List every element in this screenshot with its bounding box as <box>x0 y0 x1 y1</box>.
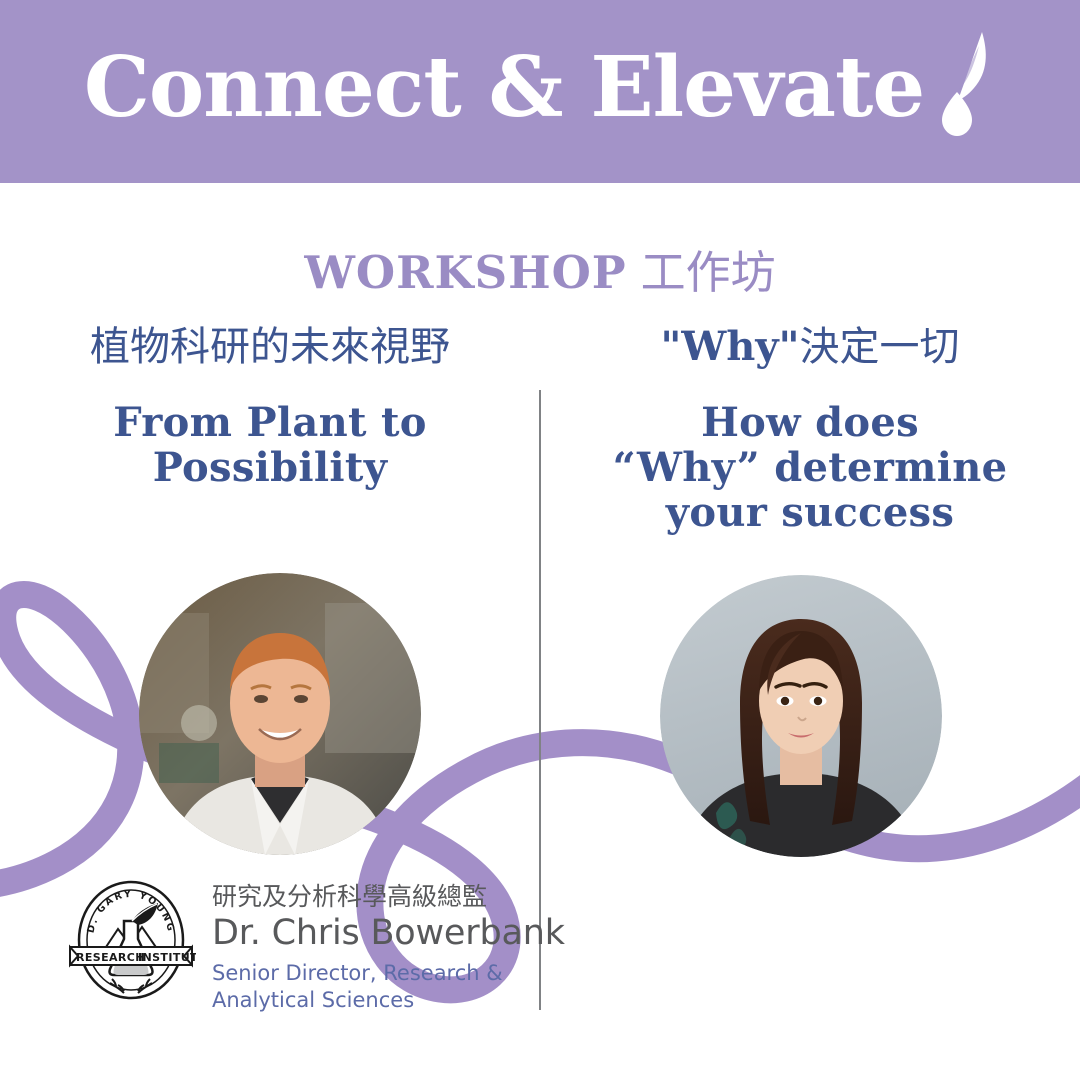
page-title: Connect & Elevate <box>84 46 924 129</box>
session-column-right: "Why"決定一切 How does “Why” determine your … <box>540 183 1080 1080</box>
speaker-role-zh-left: 研究及分析科學高級總監 <box>212 881 565 912</box>
sessions-row: 植物科研的未來視野 From Plant to Possibility <box>0 183 1080 1080</box>
session-title-zh-left: 植物科研的未來視野 <box>0 323 540 371</box>
session-title-zh-right-suffix: 決定一切 <box>799 324 959 370</box>
session-title-en-left: From Plant to Possibility <box>0 401 540 491</box>
session-title-en-right-line3: your success <box>566 491 1054 536</box>
session-title-en-right-line2: “Why” determine <box>566 446 1054 491</box>
svg-text:INSTITUTE: INSTITUTE <box>138 951 196 964</box>
session-title-en-right: How does “Why” determine your success <box>540 401 1080 535</box>
speaker-portrait-vivian-wan <box>660 575 942 857</box>
young-living-leaf-droplet-icon <box>938 30 996 138</box>
session-title-zh-right-prefix: "Why" <box>661 323 800 370</box>
speaker-role-en-left-line1: Senior Director, Research & <box>212 960 565 987</box>
speaker-credit-left: D. GARY YOUNG RESEA <box>66 875 565 1015</box>
speaker-name-left: Dr. Chris Bowerbank <box>212 912 565 956</box>
session-title-zh-right: "Why"決定一切 <box>540 323 1080 371</box>
poster-canvas: Connect & Elevate WORKSHOP工作坊 植物科研的未來視野 … <box>0 0 1080 1080</box>
session-column-left: 植物科研的未來視野 From Plant to Possibility <box>0 183 540 1080</box>
session-title-en-right-line1: How does <box>566 401 1054 446</box>
speaker-role-en-left: Senior Director, Research & Analytical S… <box>212 960 565 1015</box>
speaker-info-left: 研究及分析科學高級總監 Dr. Chris Bowerbank Senior D… <box>212 875 565 1015</box>
speaker-portrait-chris-bowerbank <box>139 573 421 855</box>
svg-text:RESEARCH: RESEARCH <box>76 951 145 964</box>
d-gary-young-research-institute-logo: D. GARY YOUNG RESEA <box>66 875 196 1010</box>
speaker-role-en-left-line2: Analytical Sciences <box>212 987 565 1014</box>
header-inner: Connect & Elevate <box>84 34 996 142</box>
header-banner: Connect & Elevate <box>0 0 1080 183</box>
